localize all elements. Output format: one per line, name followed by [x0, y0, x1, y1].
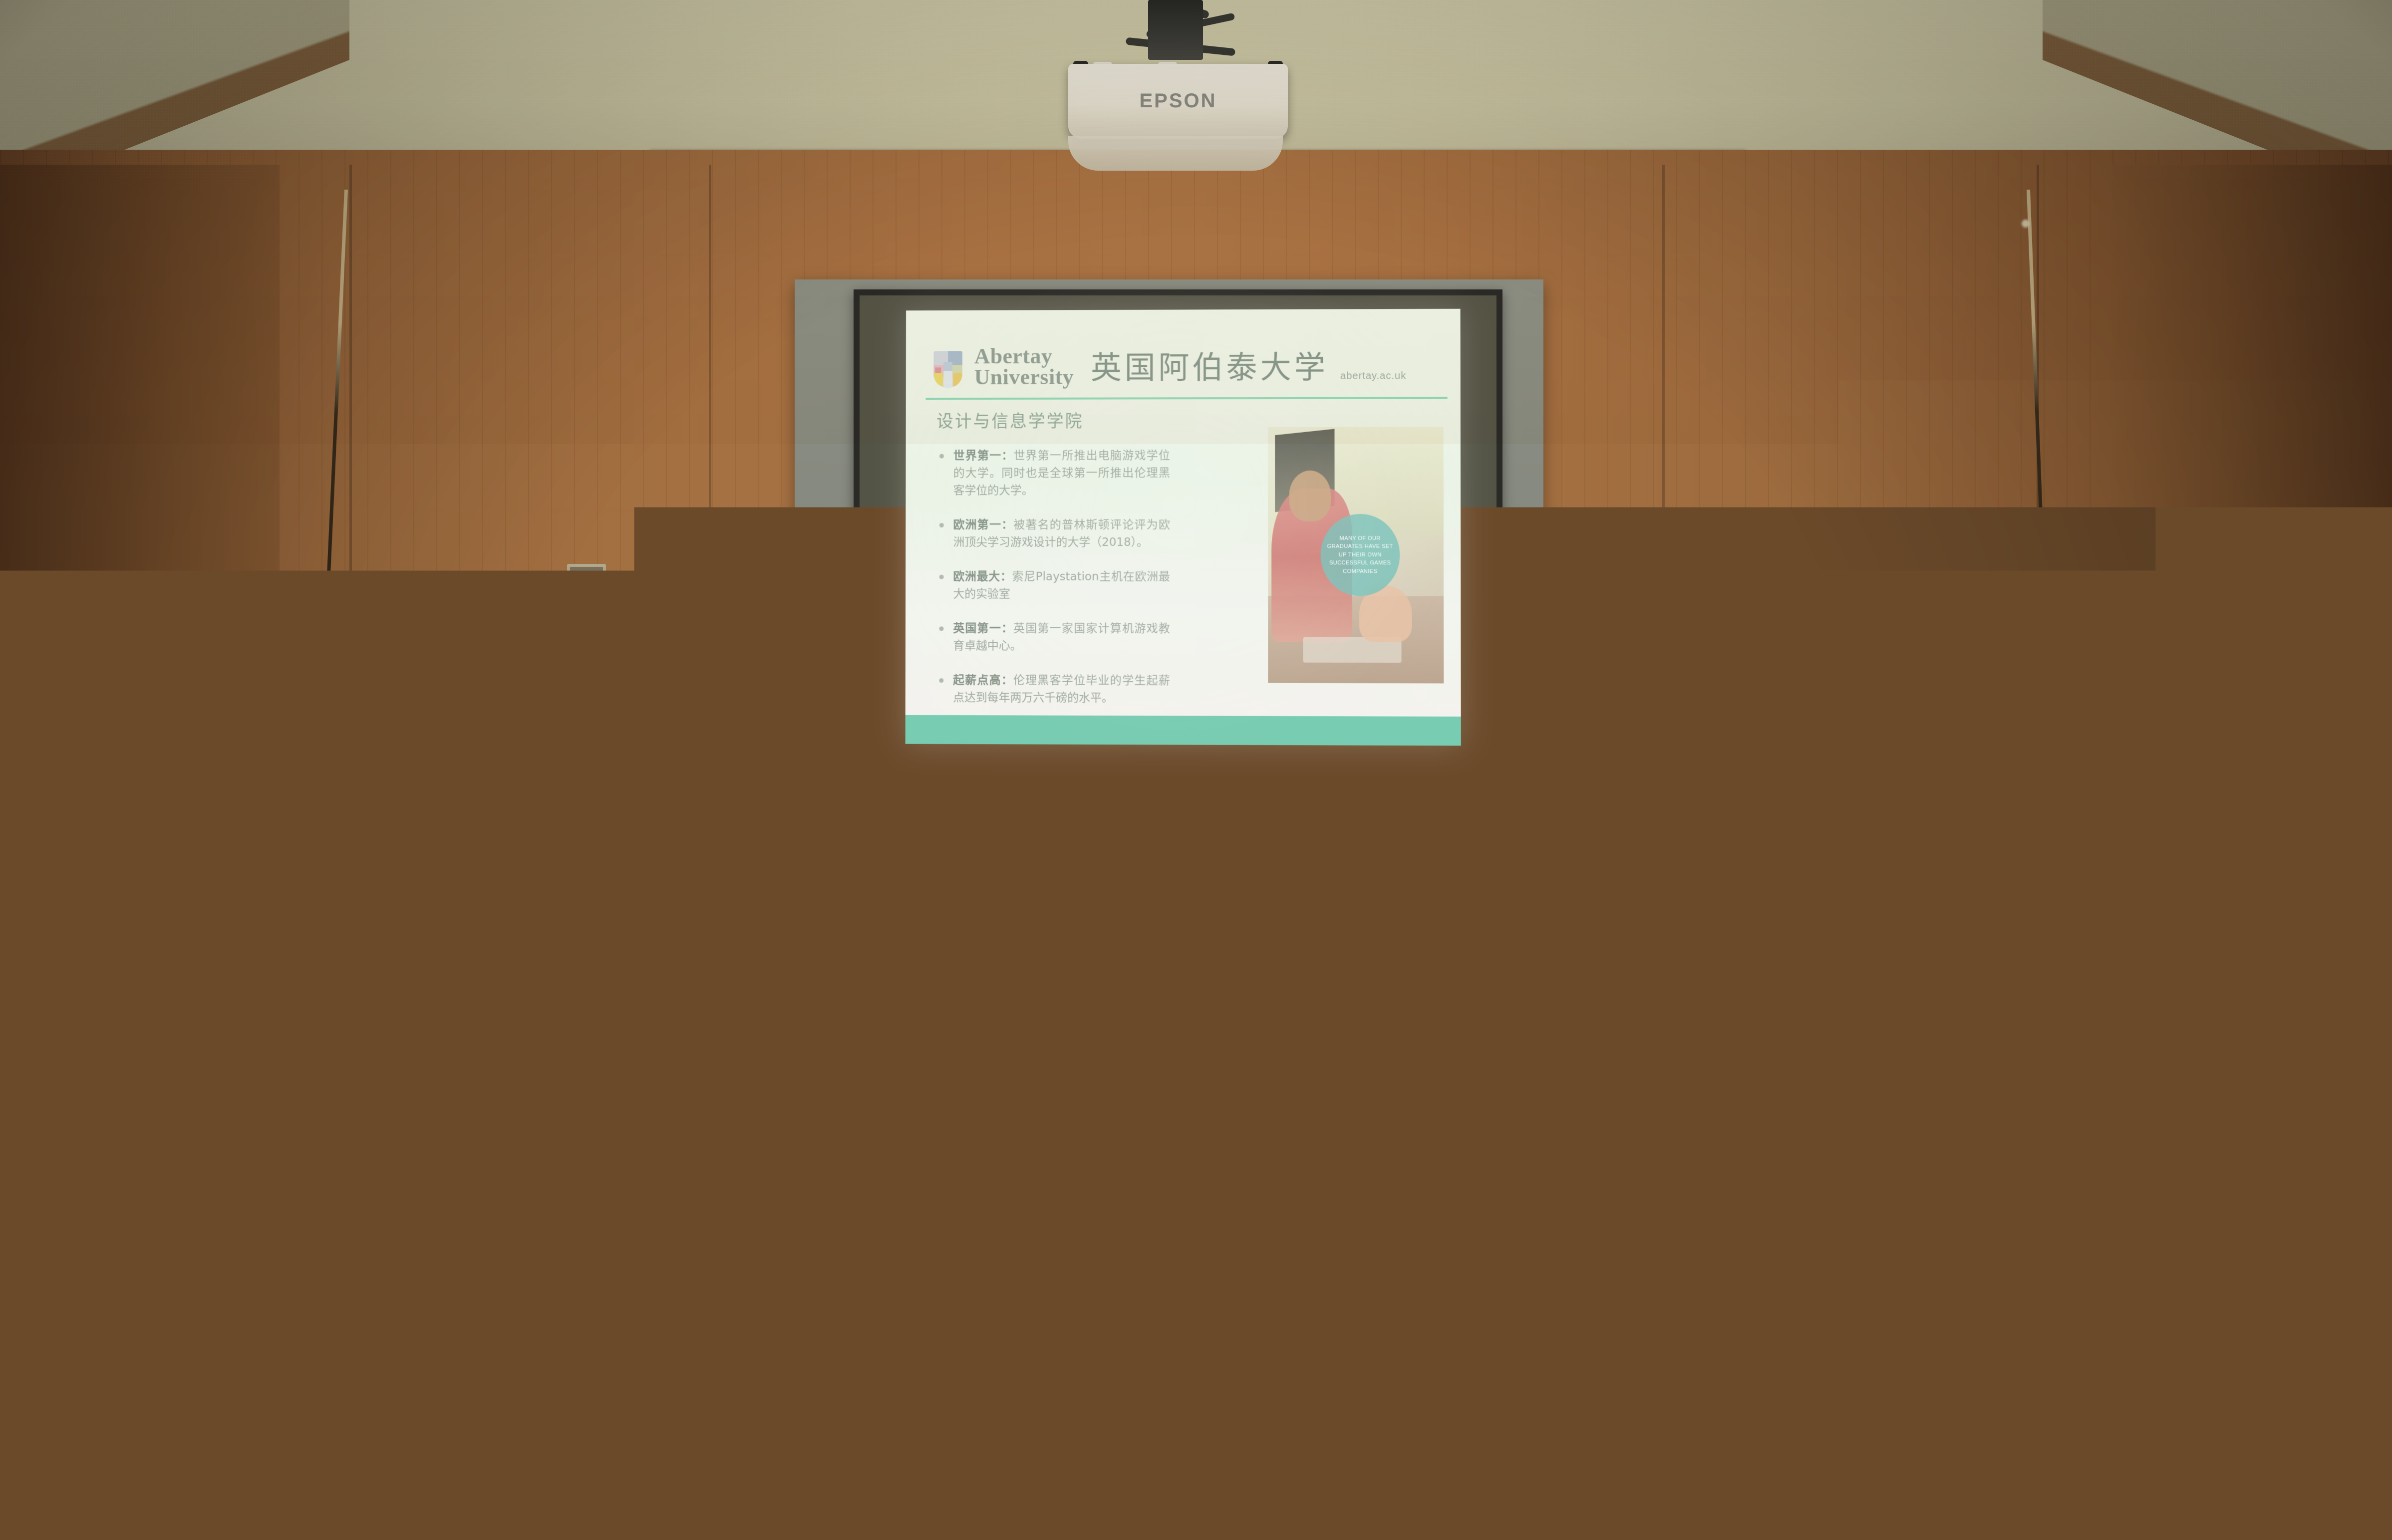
lecture-hall-photo: EPSON Abertay University 英国阿伯泰大学 abertay… — [0, 0, 2392, 1540]
slide-section-heading: 设计与信息学学院 — [936, 408, 1083, 432]
slide-footer-band — [905, 715, 1461, 746]
bullet-lead: 英国第一： — [953, 622, 1013, 635]
slide-photo-badge: MANY OF OUR GRADUATES HAVE SET UP THEIR … — [1321, 514, 1400, 596]
abertay-wordmark: Abertay University — [974, 346, 1074, 388]
abertay-shield-icon — [933, 351, 962, 388]
lectern-top: 师 范 大 学 — [1083, 921, 1283, 976]
slide-header: Abertay University 英国阿伯泰大学 abertay.ac.uk — [933, 327, 1445, 388]
epson-projector: EPSON — [1068, 64, 1288, 139]
side-wall-right — [2112, 165, 2392, 1213]
seat-number-badge: 13 — [489, 1263, 518, 1282]
slide-url: abertay.ac.uk — [1340, 370, 1406, 382]
bullet-lead: 欧洲最大： — [953, 570, 1012, 583]
wall-light-dot — [2022, 220, 2030, 228]
wall-panel-seam — [349, 165, 352, 963]
wall-fixture-left — [567, 564, 606, 587]
seat-row[interactable] — [1207, 1132, 1618, 1204]
lectern-front-panel — [1140, 979, 1226, 1073]
wall-plate-right — [1597, 599, 1610, 612]
bullet-lead: 起薪点高： — [953, 674, 1013, 687]
wall-fixture-right — [1723, 560, 1762, 583]
list-item: 世界第一：世界第一所推出电脑游戏学位的大学。同时也是全球第一所推出伦理黑客学位的… — [931, 447, 1170, 500]
seat-number-badge: 13 — [499, 1360, 528, 1379]
seat-row[interactable] — [1207, 1393, 1698, 1481]
bullet-lead: 欧洲第一： — [953, 518, 1014, 531]
projector-ceiling-mount — [1148, 0, 1203, 60]
seat-row[interactable] — [1187, 1285, 1659, 1377]
exit-sign-right — [1732, 630, 1794, 659]
brand-line-1: Abertay — [974, 346, 1074, 367]
door-left-inner[interactable] — [597, 689, 746, 1033]
whiteboard-panel-right — [1203, 802, 1523, 882]
university-seal-icon — [1176, 933, 1202, 959]
seat-row[interactable] — [1376, 1198, 1799, 1297]
bullet-lead: 世界第一： — [953, 449, 1014, 462]
list-item: 欧洲第一：被著名的普林斯顿评论评为欧洲顶尖学习游戏设计的大学（2018）。 — [931, 516, 1170, 551]
wall-panel-seam — [2037, 165, 2039, 963]
projector-brand-label: EPSON — [1068, 90, 1288, 112]
slide-photo: MANY OF OUR GRADUATES HAVE SET UP THEIR … — [1268, 427, 1444, 683]
list-item: 英国第一：英国第一家国家计算机游戏教育卓越中心。 — [931, 620, 1170, 655]
bucket-hat — [140, 1322, 265, 1397]
seat-number-badge: 11 — [299, 1253, 327, 1272]
projected-slide: Abertay University 英国阿伯泰大学 abertay.ac.uk… — [905, 309, 1461, 746]
list-item: 欧洲最大：索尼Playstation主机在欧洲最大的实验室 — [931, 568, 1170, 603]
aisle-railing — [1747, 963, 1917, 1038]
list-item: 起薪点高：伦理黑客学位毕业的学生起薪点达到每年两万六千磅的水平。 — [931, 672, 1170, 707]
slide-divider-rule — [925, 397, 1447, 400]
slide-title-chinese: 英国阿伯泰大学 — [1091, 342, 1328, 388]
projector-lens-housing — [1068, 136, 1283, 171]
slide-bullet-list: 世界第一：世界第一所推出电脑游戏学位的大学。同时也是全球第一所推出伦理黑客学位的… — [931, 447, 1170, 724]
brand-line-2: University — [974, 367, 1074, 388]
audience-seating: 11 13 11 13 — [0, 1088, 2392, 1540]
exit-sign-left — [571, 635, 632, 664]
